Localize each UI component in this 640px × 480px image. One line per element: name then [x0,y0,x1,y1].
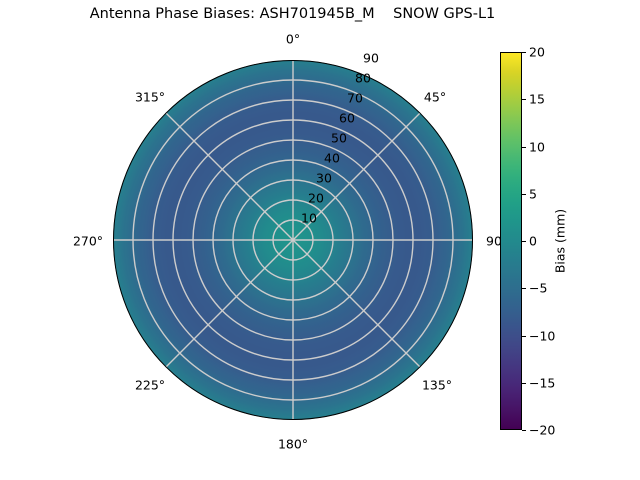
theta-tick-label-135: 135° [422,378,452,393]
r-tick-label-10: 10 [301,211,317,226]
r-tick-label-60: 60 [339,111,355,126]
polar-axes[interactable]: 10 20 30 40 50 60 70 80 90 [113,60,473,420]
colorbar-tick-label-20: 20 [529,45,545,60]
theta-tick-label-270: 270° [73,234,103,249]
r-tick-label-50: 50 [331,131,347,146]
colorbar-tick-mark-10 [522,147,526,148]
colorbar[interactable]: 20 15 10 5 0 −5 −10 −15 −20 [500,52,522,430]
r-tick-label-20: 20 [308,191,324,206]
colorbar-tick-label-neg5: −5 [529,281,547,296]
colorbar-tick-mark-0 [522,241,526,242]
polar-data-disc [113,60,473,420]
r-tick-label-40: 40 [324,151,340,166]
colorbar-tick-mark-neg15 [522,383,526,384]
colorbar-tick-mark-neg10 [522,336,526,337]
colorbar-tick-label-0: 0 [529,234,537,249]
colorbar-tick-label-neg10: −10 [529,328,555,343]
colorbar-tick-mark-neg20 [522,430,526,431]
colorbar-tick-label-neg15: −15 [529,375,555,390]
colorbar-tick-label-5: 5 [529,186,537,201]
colorbar-tick-label-15: 15 [529,92,545,107]
colorbar-axis-label: Bias (mm) [553,209,568,273]
colorbar-tick-label-10: 10 [529,139,545,154]
colorbar-gradient [500,52,522,430]
theta-tick-label-45: 45° [424,90,446,105]
theta-tick-label-315: 315° [135,90,165,105]
theta-tick-label-0: 0° [286,32,300,47]
figure-canvas: Antenna Phase Biases: ASH701945B_M SNOW … [0,0,640,480]
theta-tick-label-180: 180° [278,437,308,452]
colorbar-tick-mark-20 [522,52,526,53]
r-tick-label-30: 30 [316,171,332,186]
theta-tick-label-225: 225° [135,378,165,393]
polar-heatmap-fill [113,60,473,420]
colorbar-tick-mark-5 [522,194,526,195]
colorbar-tick-label-neg20: −20 [529,423,555,438]
r-tick-label-80: 80 [355,71,371,86]
chart-title: Antenna Phase Biases: ASH701945B_M SNOW … [0,6,585,22]
colorbar-tick-mark-neg5 [522,288,526,289]
r-tick-label-90: 90 [363,51,379,66]
r-tick-label-70: 70 [347,91,363,106]
colorbar-tick-mark-15 [522,99,526,100]
